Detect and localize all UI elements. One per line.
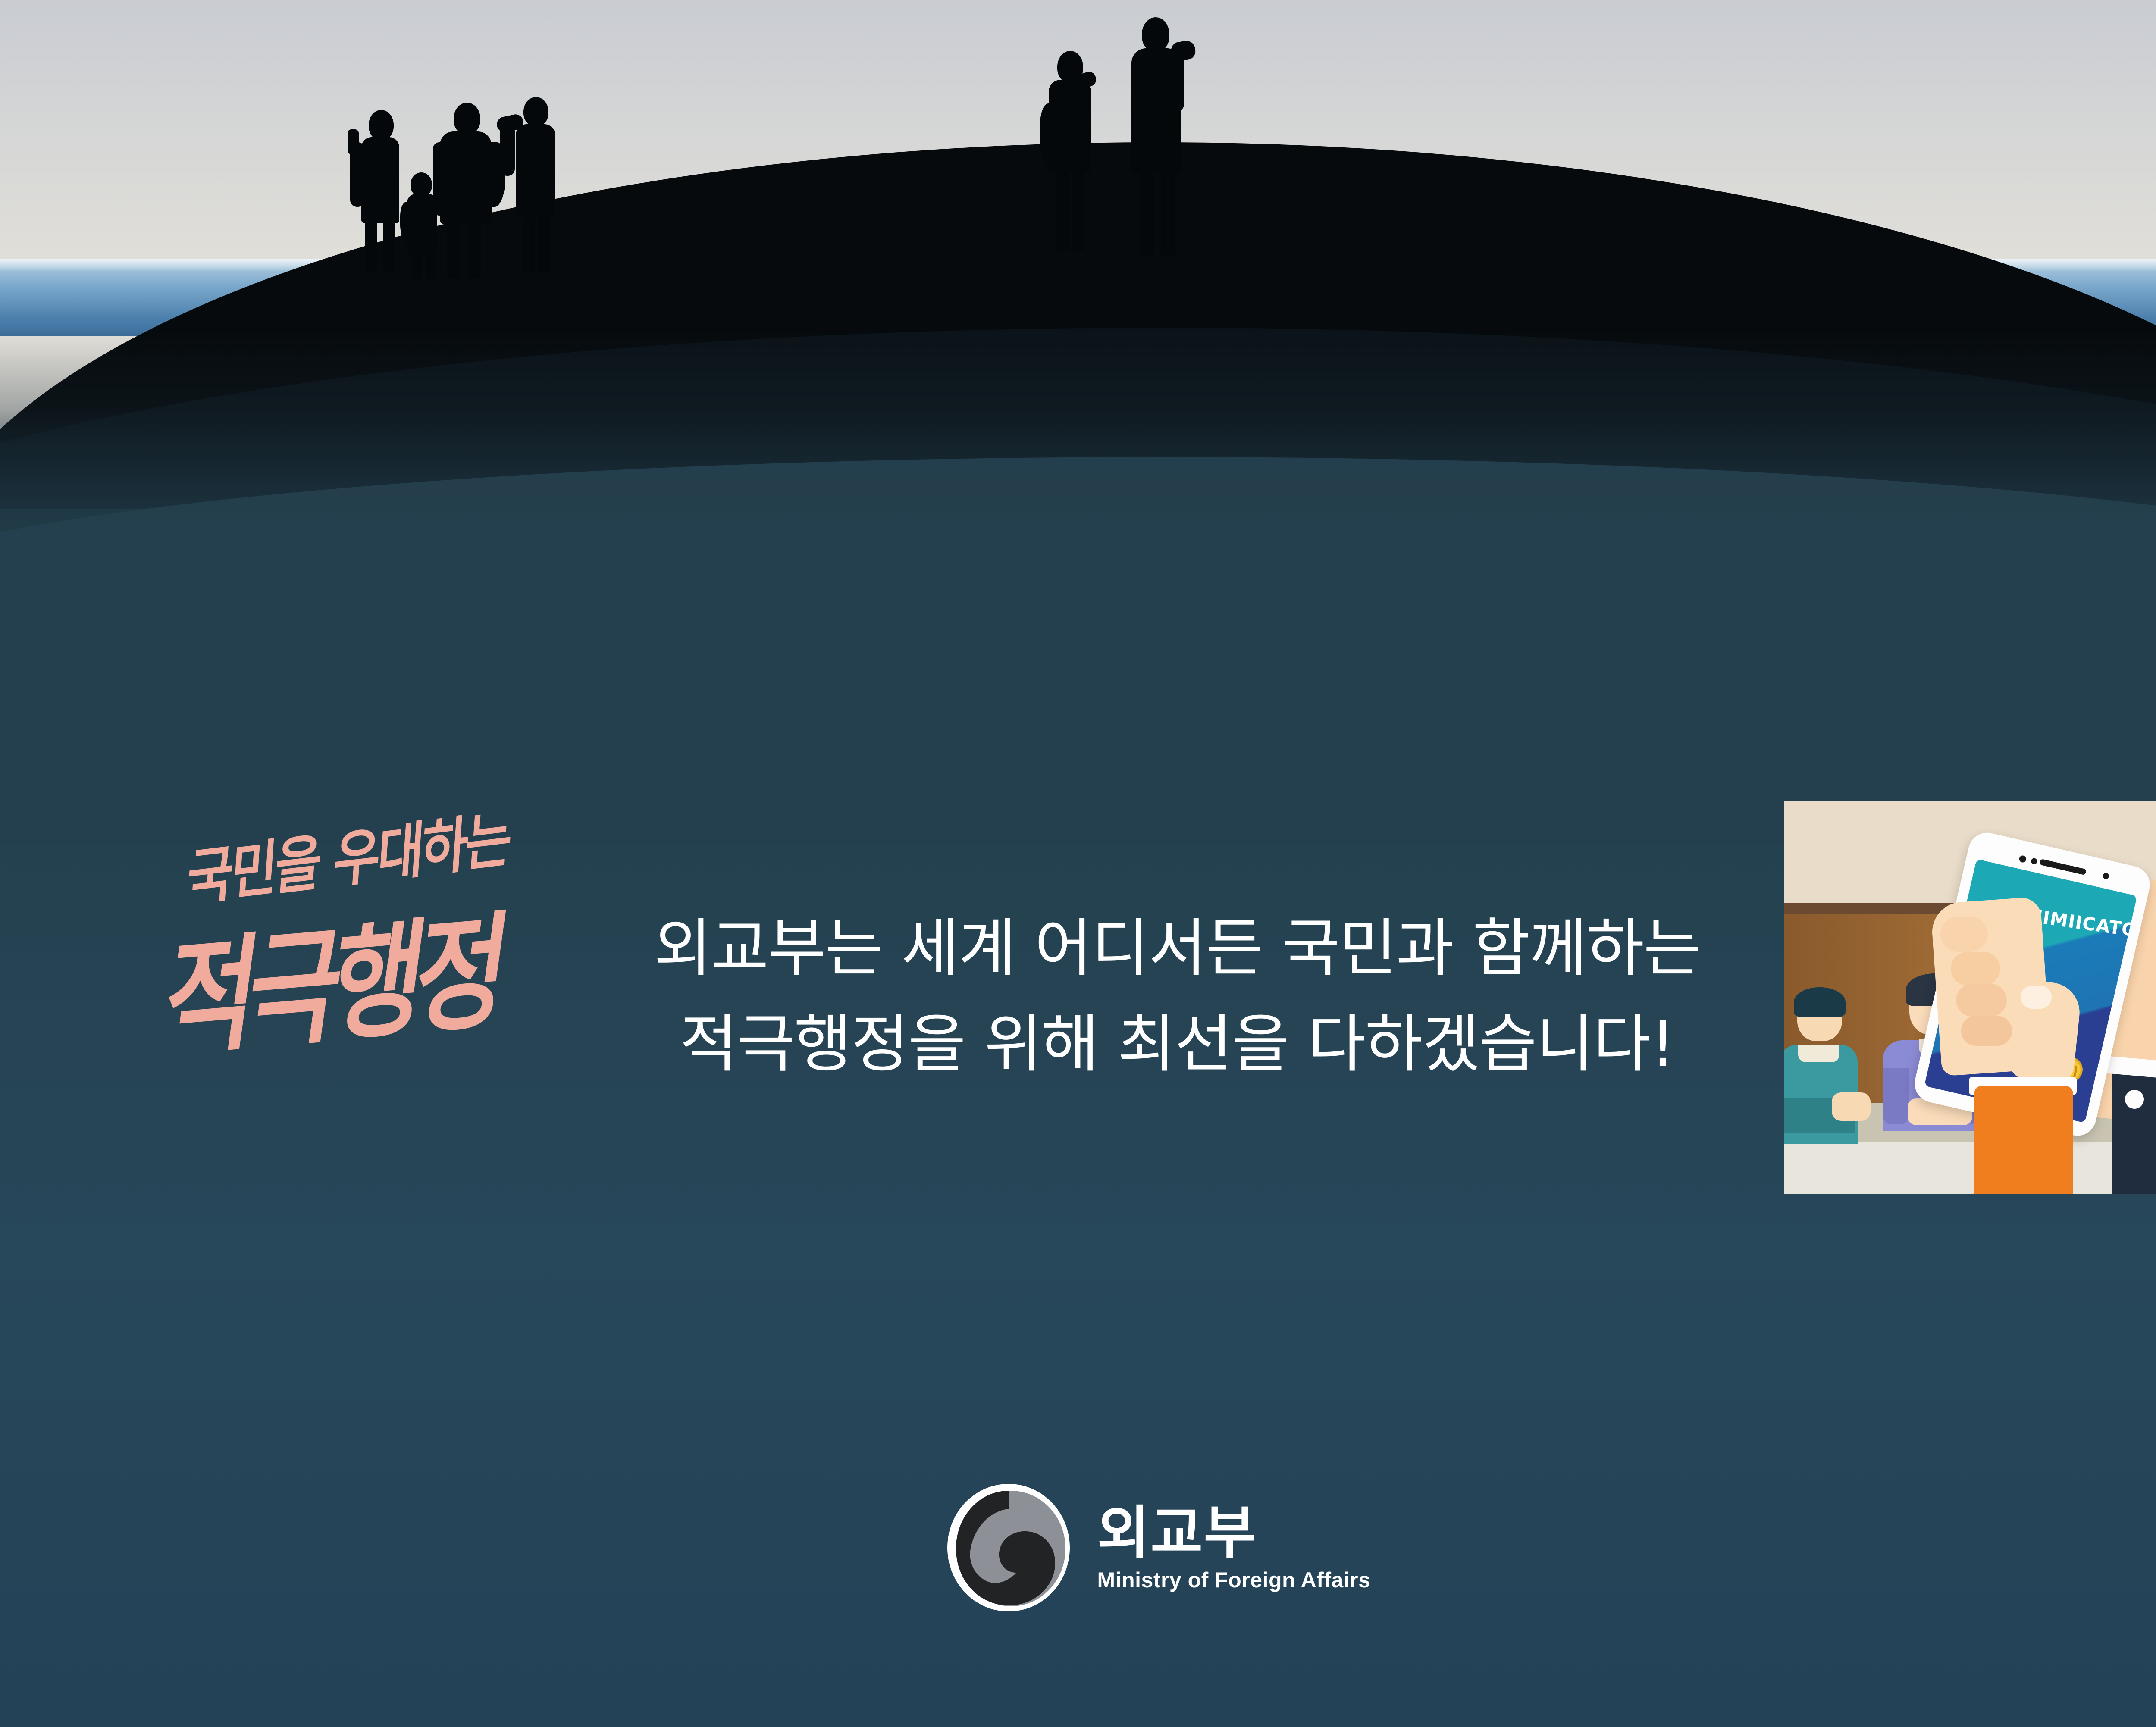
calligraphy-slogan-logo: 국민을 우대하는 적극행정 — [170, 832, 571, 1095]
calligraphy-line-2: 적극행정 — [154, 869, 513, 1081]
background-wave-band — [0, 457, 2156, 845]
ministry-name-english: Ministry of Foreign Affairs — [1097, 1569, 1371, 1591]
illustration-sleeve-button — [2125, 1090, 2144, 1109]
ministry-name-korean: 외교부 — [1097, 1505, 1371, 1561]
taegeuk-emblem-icon — [944, 1483, 1073, 1612]
phone-front-camera-icon — [2031, 857, 2038, 865]
poster-canvas: 국민을 우대하는 적극행정 외교부는 세계 어디서든 국민과 함께하는 적극행정… — [0, 0, 2156, 1727]
phone-speaker-icon — [2039, 859, 2087, 875]
illustration-panel: COMMIMIICATON — [1784, 801, 2156, 1194]
ministry-logo-text: 외교부 Ministry of Foreign Affairs — [1097, 1505, 1371, 1591]
headline-line-2: 적극행정을 위해 최선을 다하겠습니다! — [625, 997, 1729, 1092]
phone-indicator-icon — [2102, 873, 2109, 880]
illustration-floor — [1784, 1142, 2156, 1194]
headline-line-1: 외교부는 세계 어디서든 국민과 함께하는 — [625, 901, 1729, 997]
headline-block: 외교부는 세계 어디서든 국민과 함께하는 적극행정을 위해 최선을 다하겠습니… — [625, 901, 1729, 1092]
hero-photo — [0, 0, 2156, 509]
phone-sensor-icon — [2018, 855, 2027, 863]
ministry-logo: 외교부 Ministry of Foreign Affairs — [0, 1483, 2156, 1612]
